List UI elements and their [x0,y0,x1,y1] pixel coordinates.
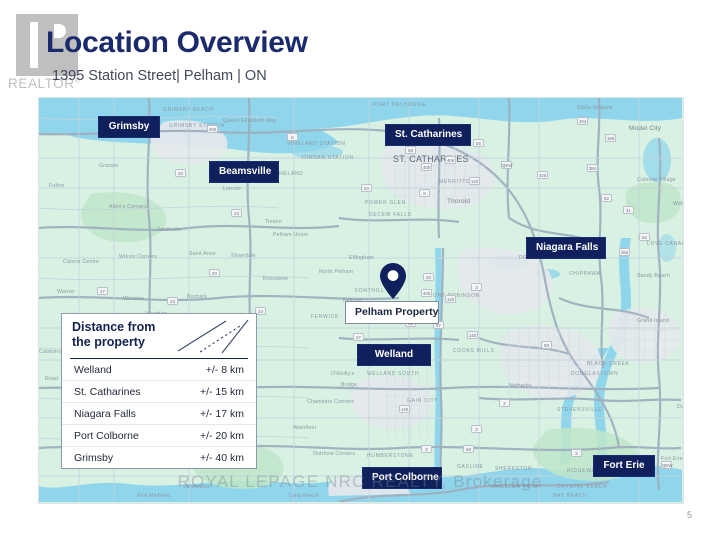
map-badge-fort-erie[interactable]: Fort Erie [593,455,655,477]
map-place-label: HUMBERSTONE [367,453,414,459]
highway-shield-icon: 58 [541,341,552,349]
distance-value: +/- 17 km [200,408,244,420]
distance-table-row: Port Colborne+/- 20 km [62,425,256,447]
map-place-label: Bismark [187,294,207,300]
map-place-label: WHEELER POINT [491,484,542,490]
map-place-label: SHERKSTON [495,466,532,472]
map-place-label: Tintern [265,219,282,225]
map-place-label: Long Beach [289,493,319,499]
distance-table-row: Niagara Falls+/- 17 km [62,403,256,425]
map-place-label: Stella Niagara [577,105,612,111]
map-badge-welland[interactable]: Welland [357,344,431,366]
highway-shield-icon: 265 [619,248,630,256]
map-place-label: Stromness [183,484,210,490]
map-place-label: Saint Anns [189,251,216,257]
map-place-label: Wilcox Corners [119,254,157,260]
map-place-label: Warner [57,289,75,295]
highway-shield-icon: 20 [361,184,372,192]
map-place-label: LOVE CANAL [647,241,684,247]
highway-shield-icon: 62 [639,233,650,241]
distance-value: +/- 40 km [200,452,244,464]
map-place-label: PORT DALHOUSIE [373,102,427,108]
distance-place: Niagara Falls [74,408,136,420]
highway-shield-icon: QEW [661,461,672,469]
map-place-label: Silverdale [231,253,256,259]
map-place-label: Wainfleet [293,425,316,431]
page-subtitle: 1395 Station Street| Pelham | ON [52,68,267,84]
highway-shield-icon: 20 [209,269,220,277]
map-place-label: Netherby [509,383,532,389]
highway-shield-icon: 405 [421,163,432,171]
map-place-label: FENWICK [311,314,339,320]
map-place-label: Queen Elizabeth Way [223,118,277,124]
map-place-label: DOUGLASTOWN [571,371,618,377]
highway-shield-icon: 420 [537,171,548,179]
map-place-label: POWER GLEN [365,200,406,206]
highway-shield-icon: 406 [421,289,432,297]
map-place-label: Grassie [99,163,118,169]
map-place-label: Road [45,376,58,382]
map-place-label: Bridge [341,382,357,388]
distance-table-row: St. Catharines+/- 15 km [62,381,256,403]
map-place-label: COOKS MILLS [453,348,495,354]
map-place-label: GAIN CITY [407,398,438,404]
highway-shield-icon: 55 [473,139,484,147]
map-place-label: Allen's Corners [109,204,147,210]
highway-shield-icon: 140 [467,331,478,339]
highway-shield-icon: 58 [405,146,416,154]
map-place-label: CHIPPAWA [569,271,601,277]
highway-shield-icon: 3 [471,425,482,433]
highway-shield-icon: 406 [445,156,456,164]
map-place-label: Pelham Union [273,232,308,238]
map-place-label: CRYSTAL BEACH [557,484,607,490]
map-badge-niagara-falls[interactable]: Niagara Falls [526,237,606,259]
highway-shield-icon: 384 [587,164,598,172]
map-pin-icon [380,263,406,299]
map-place-label: VINELAND STATION [287,141,346,147]
highway-shield-icon: 20 [423,273,434,281]
map-place-label: JORDAN STATION [301,155,354,161]
map-place-label: O'Reilly's [331,371,354,377]
map-place-label: Model City [629,125,661,132]
map-place-label: Ostrhow Corners [313,451,355,457]
highway-shield-icon: 27 [97,287,108,295]
map-place-label: Fulton [49,183,65,189]
map-place-label: Colonial Village [637,177,676,183]
map-place-label: WELLAND SOUTH [367,371,419,377]
page-title: Location Overview [46,26,308,60]
map-place-label: North Pelham [319,269,353,275]
distance-place: St. Catharines [74,386,141,398]
highway-shield-icon: 3 [471,283,482,291]
map-place-label: Port Maitland [137,493,170,499]
property-map-pin[interactable] [380,263,406,304]
highway-shield-icon: 3 [499,399,510,407]
road-lines-decoration [176,318,250,354]
map-badge-st-catharines[interactable]: St. Catharines [385,124,471,146]
map-place-label: Rosedene [263,276,288,282]
distance-table: Distance from the property Welland+/- 8 … [61,313,257,469]
distance-table-row: Welland+/- 8 km [62,359,256,381]
highway-shield-icon: 24 [231,209,242,217]
highway-shield-icon: 31 [623,206,634,214]
map-place-label: Thorold [447,198,470,205]
distance-value: +/- 8 km [206,364,244,376]
map-place-label: Chambers Corners [307,399,354,405]
highway-shield-icon: 190 [605,134,616,142]
map-place-label: Winslow [123,296,144,302]
map-badge-port-colborne[interactable]: Port Colborne [362,467,442,489]
highway-shield-icon: 140 [469,177,480,185]
distance-table-row: Grimsby+/- 40 km [62,447,256,468]
page-number: 5 [687,510,692,520]
map-badge-grimsby[interactable]: Grimsby [98,116,160,138]
highway-shield-icon: QEW [501,161,512,169]
highway-shield-icon: 20 [175,169,186,177]
map-place-label: Grand Island [637,318,669,324]
map-place-label: DECEW FALLS [369,212,412,218]
highway-shield-icon: 104 [577,117,588,125]
map-place-label: BAY BEACH [553,493,587,499]
highway-shield-icon: 27 [353,333,364,341]
highway-shield-icon: 406 [207,125,218,133]
map-place-label: Caistor Centre [63,259,99,265]
highway-shield-icon: 62 [601,194,612,202]
map-place-label: Walmore [673,201,684,207]
distance-place: Welland [74,364,112,376]
distance-place: Port Colborne [74,430,139,442]
map-place-label: GASLINE [457,464,484,470]
distance-table-header: Distance from the property [62,314,256,358]
map-place-label: STEVENSVILLE [557,407,602,413]
distance-table-body: Welland+/- 8 kmSt. Catharines+/- 15 kmNi… [62,359,256,468]
highway-shield-icon: 8 [419,189,430,197]
highway-shield-icon: 140 [445,295,456,303]
map-place-label: Dunnville [677,404,684,410]
map-place-label: GRIMSBY BEACH [163,107,214,113]
distance-value: +/- 20 km [200,430,244,442]
highway-shield-icon: 24 [167,297,178,305]
highway-shield-icon: 3 [571,449,582,457]
map-badge-pelham-property[interactable]: Pelham Property [345,301,439,324]
distance-value: +/- 15 km [200,386,244,398]
map-place-label: Sandy Beach [637,273,670,279]
map-place-label: BLACK CREEK [587,361,630,367]
map-place-label: Lincoln [223,186,241,192]
highway-shield-icon: 8 [287,133,298,141]
distance-place: Grimsby [74,452,113,464]
highway-shield-icon: 58 [463,445,474,453]
map-place-label: Smithville [157,227,181,233]
highway-shield-icon: 3 [421,445,432,453]
map-badge-beamsville[interactable]: Beamsville [209,161,279,183]
map-place-label: Effingham [349,255,374,261]
highway-shield-icon: 140 [399,405,410,413]
